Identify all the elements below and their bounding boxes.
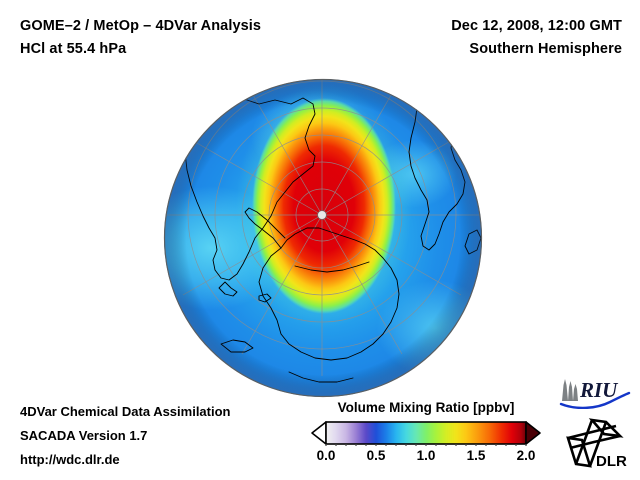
colorbar-title: Volume Mixing Ratio [ppbv]	[310, 400, 542, 415]
colorbar-tick-label: 0.0	[317, 448, 336, 463]
colorbar-tick-label: 1.5	[467, 448, 486, 463]
riu-wordmark: RIU	[579, 378, 619, 402]
dlr-wordmark: DLR	[596, 453, 627, 470]
colorbar-extend-max	[526, 422, 540, 444]
dlr-logo: DLR	[562, 416, 634, 472]
colorbar-gradient	[326, 422, 526, 444]
footer-version-label: SACADA Version 1.7	[20, 428, 147, 443]
header-region: Southern Hemisphere	[469, 41, 622, 57]
orthographic-projection	[163, 78, 483, 398]
south-pole-marker	[318, 211, 327, 220]
riu-towers-icon	[562, 379, 578, 401]
riu-logo: RIU	[558, 375, 632, 409]
colorbar-tick-label: 2.0	[517, 448, 536, 463]
footer-assimilation-label: 4DVar Chemical Data Assimilation	[20, 404, 231, 419]
colorbar-tick-label: 1.0	[417, 448, 436, 463]
colorbar-ticks	[326, 444, 526, 446]
page-title-instrument: GOME–2 / MetOp – 4DVar Analysis	[20, 18, 261, 34]
colorbar-extend-min	[312, 422, 326, 444]
footer-url-link[interactable]: http://wdc.dlr.de	[20, 452, 120, 467]
header-datetime: Dec 12, 2008, 12:00 GMT	[451, 18, 622, 34]
colorbar-tick-labels: 0.0 0.5 1.0 1.5 2.0	[310, 448, 542, 468]
limb-shading	[164, 79, 482, 397]
colorbar: Volume Mixing Ratio [ppbv]	[310, 400, 542, 476]
page-title-species: HCl at 55.4 hPa	[20, 41, 126, 57]
map-globe	[163, 78, 483, 398]
colorbar-tick-label: 0.5	[367, 448, 386, 463]
colorbar-scale	[310, 420, 542, 446]
